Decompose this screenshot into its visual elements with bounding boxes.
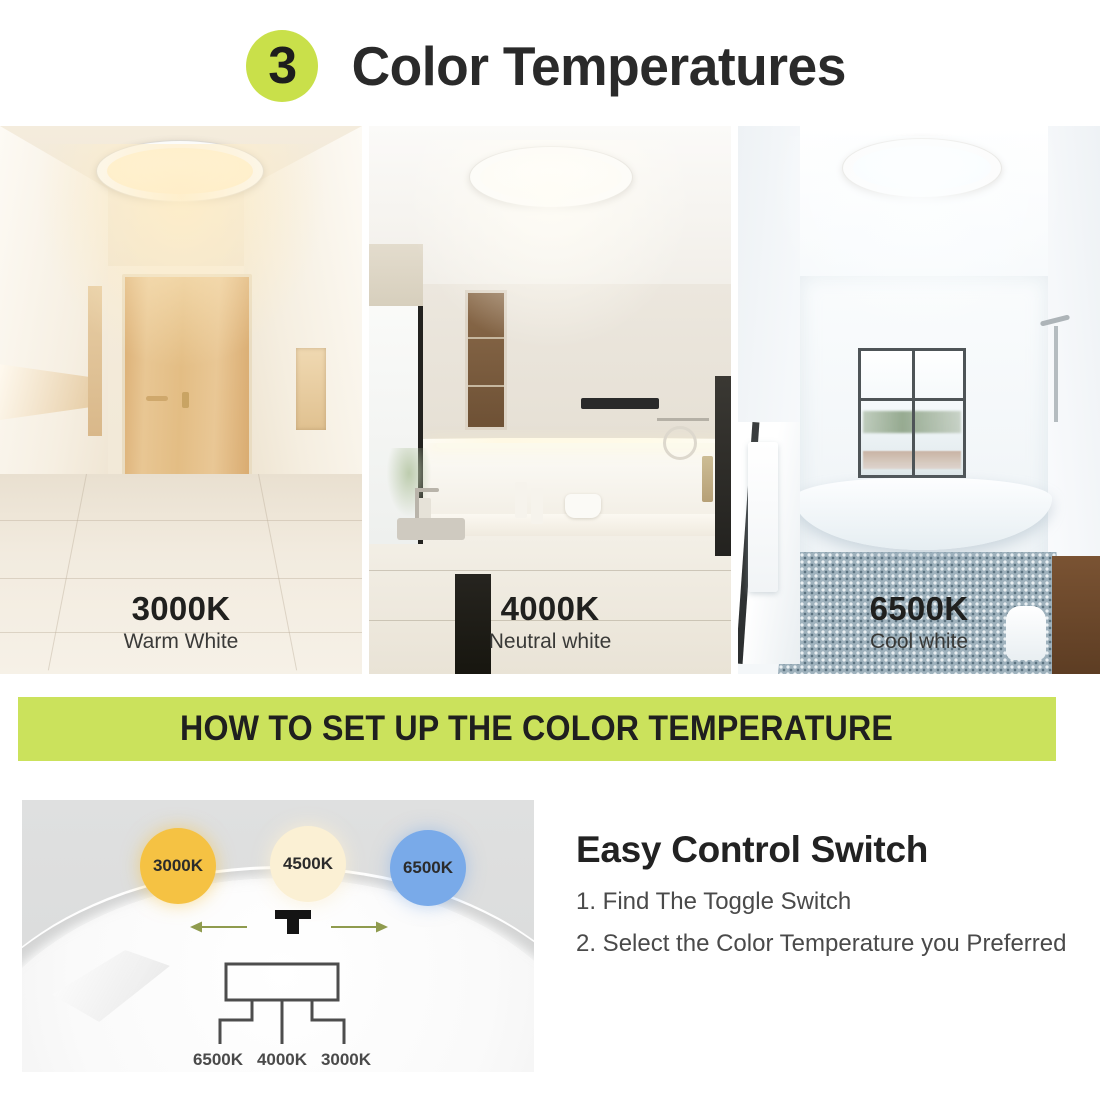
banner-text: HOW TO SET UP THE COLOR TEMPERATURE — [180, 709, 893, 749]
schematic-label-3000k: 3000K — [321, 1050, 372, 1069]
schematic-label-4000k: 4000K — [257, 1050, 308, 1069]
page-header: 3 Color Temperatures — [0, 18, 1100, 114]
scene-kitchen — [369, 126, 731, 674]
temperature-panel-4000k: 4000K Neutral white — [369, 126, 731, 674]
bubble-4500k: 4500K — [270, 826, 346, 902]
bubble-6500k: 6500K — [390, 830, 466, 906]
scene-bathroom — [738, 126, 1100, 674]
page-title: Color Temperatures — [352, 34, 846, 98]
arrow-right-icon — [330, 920, 388, 934]
how-to-banner: HOW TO SET UP THE COLOR TEMPERATURE — [18, 697, 1056, 761]
bubble-3000k: 3000K — [140, 828, 216, 904]
instruction-step-1: 1. Find The Toggle Switch — [576, 885, 1076, 919]
switch-diagram: 3000K 4500K 6500K — [22, 800, 534, 1072]
switch-schematic: 6500K 4000K 3000K — [192, 962, 372, 1070]
instruction-step-2: 2. Select the Color Temperature you Pref… — [576, 927, 1068, 961]
schematic-label-6500k: 6500K — [193, 1050, 244, 1069]
badge-number: 3 — [268, 40, 296, 92]
setup-section: 3000K 4500K 6500K — [0, 795, 1100, 1100]
arrow-left-icon — [190, 920, 248, 934]
scene-hallway — [0, 126, 362, 674]
temperature-panel-6500k: 6500K Cool white — [738, 126, 1100, 674]
count-badge: 3 — [246, 30, 318, 102]
toggle-switch-icon[interactable] — [271, 908, 315, 938]
infographic-page: 3 Color Temperatures — [0, 0, 1100, 1100]
instructions-title: Easy Control Switch — [576, 829, 1076, 871]
color-temperature-gallery: 3000K Warm White — [0, 126, 1100, 674]
temperature-panel-3000k: 3000K Warm White — [0, 126, 362, 674]
instructions-column: Easy Control Switch 1. Find The Toggle S… — [576, 829, 1076, 961]
